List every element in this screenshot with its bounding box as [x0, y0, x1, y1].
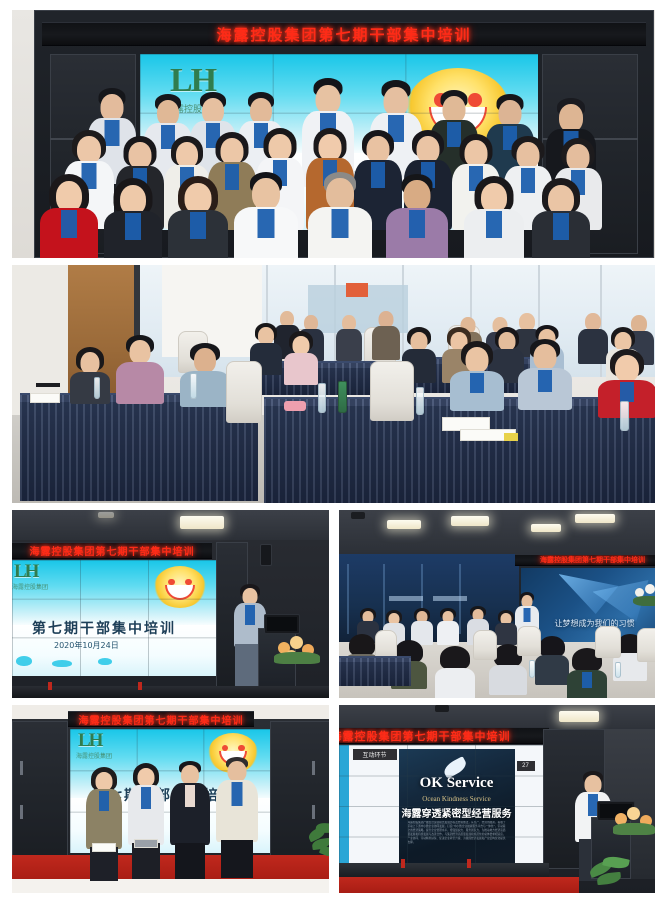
- video-wall: OK Service Ocean Kindness Service 海露穿透紧密…: [339, 745, 543, 867]
- led-banner: 海露控股集团第七期干部集中培训: [68, 711, 254, 727]
- award-presenter: [216, 757, 258, 879]
- photo-award-group[interactable]: 海露控股集团第七期干部集中培训 LH 海露控股集团 第七期干部集中培训: [12, 705, 329, 893]
- award-presenter: [170, 761, 210, 879]
- led-banner: 海露控股集团第七期干部集中培训: [515, 554, 656, 566]
- led-banner: 海露控股集团第七期干部集中培训: [339, 727, 549, 744]
- photo-row-1: 海露控股集团第七期干部集中培训 LH 海露控股集团: [12, 10, 655, 258]
- thermos-bottle: [338, 381, 347, 413]
- award-recipient: [86, 767, 122, 879]
- led-banner: 海露控股集团第七期干部集中培训: [42, 22, 646, 46]
- photo-row-3: 海露控股集团第七期干部集中培训 LH 海露控股集团 第七期干部集中培训 2020…: [12, 510, 655, 698]
- conference-table-front-left: [20, 393, 258, 501]
- presentation-screen: LH 海露控股集团 第七期干部集中培训 2020年10月24日: [12, 560, 216, 676]
- photo-row-4: 海露控股集团第七期干部集中培训 LH 海露控股集团 第七期干部集中培训: [12, 705, 655, 893]
- photo-group-portrait[interactable]: 海露控股集团第七期干部集中培训 LH 海露控股集团: [12, 10, 655, 258]
- slide-title: 让梦想成为我们的习惯: [521, 618, 656, 629]
- award-recipient: [128, 763, 164, 879]
- photo-row-2: [12, 265, 655, 503]
- flower-arrangement: [274, 634, 322, 668]
- flower-arrangement: [613, 807, 656, 839]
- speaker-icon: [260, 544, 272, 566]
- led-banner: 海露控股集团第七期干部集中培训: [12, 542, 212, 559]
- potted-plant: [589, 855, 635, 893]
- photo-lecture-wide[interactable]: 海露控股集团第七期干部集中培训 让梦想成为我们的习惯: [339, 510, 656, 698]
- laptop: [264, 614, 300, 634]
- photo-gallery: 海露控股集团第七期干部集中培训 LH 海露控股集团: [0, 0, 667, 922]
- potted-plant: [308, 823, 329, 867]
- photo-audience-wide[interactable]: [12, 265, 655, 503]
- photo-interactive-session[interactable]: 海露控股集团第七期干部集中培训 OK Service Ocean Kindnes…: [339, 705, 656, 893]
- photo-opening-ceremony[interactable]: 海露控股集团第七期干部集中培训 LH 海露控股集团 第七期干部集中培训 2020…: [12, 510, 329, 698]
